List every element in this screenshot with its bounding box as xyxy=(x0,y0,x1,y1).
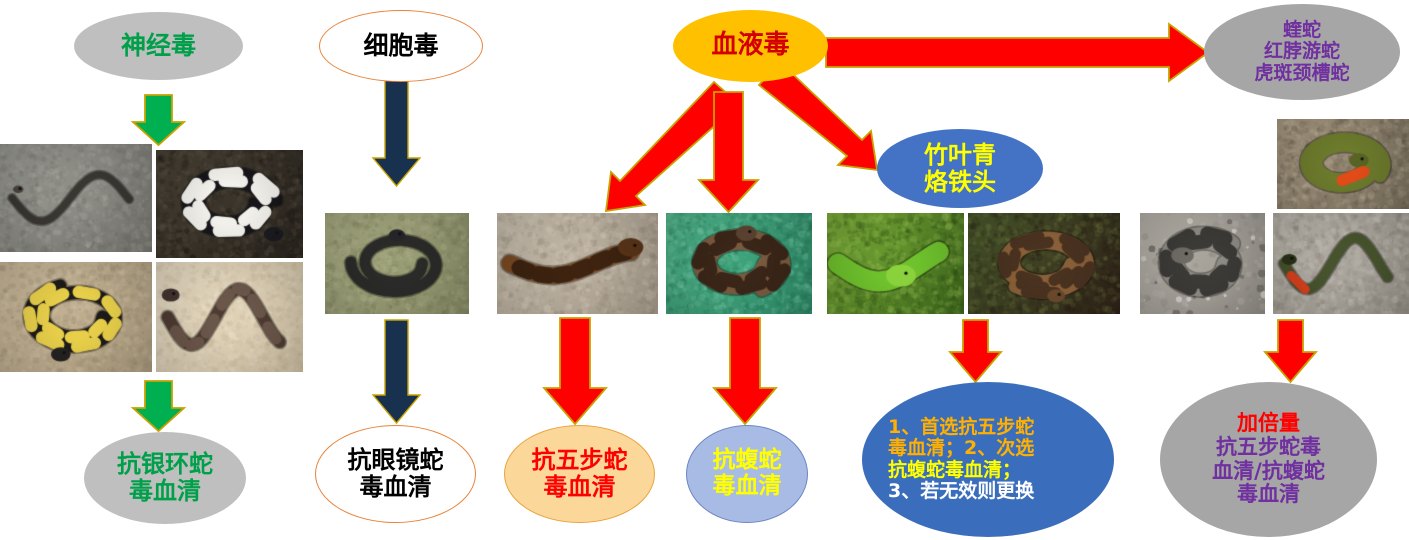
anti-wubushe-line-1: 抗五步蛇 xyxy=(532,447,628,474)
species-node-viper-group[interactable]: 蝰蛇 红脖游蛇 虎斑颈槽蛇 xyxy=(1204,4,1400,100)
species-line-1: 蝰蛇 xyxy=(1283,20,1321,41)
protocol-line-4: 3、若无效则更换 xyxy=(888,481,1034,502)
double-dose-line-4: 毒血清 xyxy=(1237,483,1300,507)
protocol-line-3: 抗蝮蛇毒血清； xyxy=(888,460,1021,481)
snake-photo-red-necked-keelback xyxy=(1273,213,1409,314)
snake-photo-gray-viper-on-gravel xyxy=(1140,213,1265,314)
diagram-canvas: 神经毒 细胞毒 血液毒 蝰蛇 红脖游蛇 虎斑颈槽蛇 竹叶青 烙铁头 抗银环蛇 毒… xyxy=(0,0,1409,540)
double-dose-node[interactable]: 加倍量 抗五步蛇毒 血清/抗蝮蛇 毒血清 xyxy=(1160,382,1377,537)
species-line-3: 虎斑颈槽蛇 xyxy=(1254,63,1349,84)
pitviper-line-2: 烙铁头 xyxy=(924,169,996,196)
arrow-green-neurotoxin-to-photos xyxy=(133,95,184,145)
anti-agkistrodon-line-2: 毒血清 xyxy=(713,474,782,500)
antivenom-node-anti-cobra[interactable]: 抗眼镜蛇 毒血清 xyxy=(315,425,476,523)
antivenom-node-anti-agkistrodon[interactable]: 抗蝮蛇 毒血清 xyxy=(686,425,808,523)
protocol-node[interactable]: 1、首选抗五步蛇 毒血清；2、次选 抗蝮蛇毒血清； 3、若无效则更换 xyxy=(862,382,1114,537)
anti-cobra-line-2: 毒血清 xyxy=(360,474,432,501)
arrow-red-viperrock-to-antiwubushe xyxy=(544,318,606,424)
anti-wubushe-line-2: 毒血清 xyxy=(544,474,616,501)
venom-label-cytotoxin: 细胞毒 xyxy=(363,32,438,60)
double-dose-line-3: 血清/抗蝮蛇 xyxy=(1212,460,1325,484)
anti-agkistrodon-line-1: 抗蝮蛇 xyxy=(713,448,782,474)
species-line-2: 红脖游蛇 xyxy=(1264,41,1340,62)
snake-photo-many-banded-krait xyxy=(156,150,303,258)
arrow-red-pitvipers-to-protocol xyxy=(950,320,1001,382)
venom-label-neurotoxin: 神经毒 xyxy=(121,32,196,60)
anti-krait-line-2: 毒血清 xyxy=(129,478,201,505)
arrow-navy-cobra-to-anticobra xyxy=(373,320,420,423)
arrow-red-keelback-to-doubledose xyxy=(1265,320,1316,382)
anti-cobra-line-1: 抗眼镜蛇 xyxy=(348,447,444,474)
venom-node-cytotoxin[interactable]: 细胞毒 xyxy=(319,10,483,82)
venom-node-neurotoxin[interactable]: 神经毒 xyxy=(74,12,243,80)
protocol-line-1: 1、首选抗五步蛇 xyxy=(888,417,1034,438)
snake-photo-cobra-hooded xyxy=(325,213,469,314)
antivenom-node-anti-wubushe[interactable]: 抗五步蛇 毒血清 xyxy=(504,425,655,523)
arrow-red-hemotoxin-to-viper-rock xyxy=(606,82,739,211)
snake-photo-sharp-nosed-viper-on-rock xyxy=(497,213,658,314)
snake-photo-brown-snake-illustration xyxy=(156,262,303,372)
arrow-navy-cytotoxin-to-cobra xyxy=(373,80,420,186)
snake-photo-banded-krait-yellow xyxy=(0,262,152,372)
species-node-pitviper-group[interactable]: 竹叶青 烙铁头 xyxy=(877,129,1043,208)
arrow-red-hemotoxin-to-viper-group xyxy=(826,24,1208,81)
venom-node-hemotoxin[interactable]: 血液毒 xyxy=(673,10,828,82)
snake-photo-bamboo-pit-viper-green xyxy=(827,213,964,314)
pitviper-line-1: 竹叶青 xyxy=(924,142,996,169)
protocol-line-2: 毒血清；2、次选 xyxy=(888,438,1034,459)
anti-krait-line-1: 抗银环蛇 xyxy=(117,451,213,478)
arrow-red-vipergreen-to-antiagkistrodon xyxy=(714,318,776,424)
venom-label-hemotoxin: 血液毒 xyxy=(711,31,789,60)
arrow-green-photos-to-antikrait xyxy=(133,381,184,431)
arrow-red-hemotoxin-to-viper-green xyxy=(699,92,758,212)
snake-photo-camouflaged-brown-viper xyxy=(968,213,1120,314)
snake-photo-cobra-on-road xyxy=(0,144,152,252)
antivenom-node-anti-krait[interactable]: 抗银环蛇 毒血清 xyxy=(84,432,246,524)
double-dose-line-2: 抗五步蛇毒 xyxy=(1216,436,1321,460)
double-dose-line-1: 加倍量 xyxy=(1237,412,1300,436)
snake-photo-pitviper-green-background xyxy=(666,213,812,314)
snake-photo-red-necked-keelback-coiled xyxy=(1277,119,1409,209)
